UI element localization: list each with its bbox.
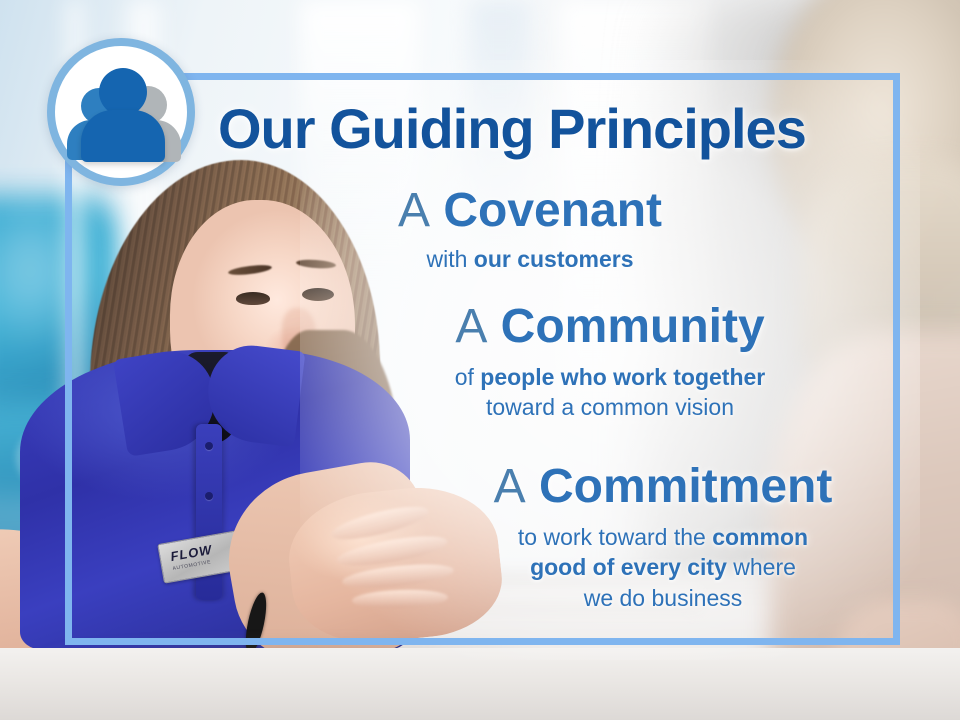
people-glyph [55,46,187,178]
principle-subtext-plain: of [455,364,481,390]
principle-article: A [398,184,430,237]
principle-commitment: A Commitment to work toward the common g… [448,462,878,613]
shirt-button [205,492,213,500]
principle-subtext-plain: with [426,246,473,272]
person-center-head [99,68,147,116]
three-people-icon [47,38,195,186]
page-title: Our Guiding Principles [218,96,878,161]
principle-heading: A Community [390,302,830,353]
shirt-button [205,442,213,450]
principle-subtext: to work toward the common good of every … [448,522,878,613]
principle-keyword: Commitment [539,460,832,513]
principle-heading: A Commitment [448,462,878,513]
principle-subtext-plain: to work toward the [518,524,712,550]
principle-subtext-line2: toward a common vision [486,394,734,420]
principle-subtext-line2-bold: good of every city [530,554,727,580]
principle-covenant: A Covenant with our customers [350,186,710,274]
principle-keyword: Community [501,300,765,353]
principle-subtext: of people who work together toward a com… [390,362,830,423]
principle-subtext-line2-plain: where [727,554,796,580]
employee-eye-right [302,288,334,301]
principle-subtext: with our customers [350,244,710,274]
principle-keyword: Covenant [443,184,662,237]
banner-canvas: FLOW AUTOMOTIVE FLOW Our Guiding Princip… [0,0,960,720]
employee-eye-left [236,292,270,305]
principle-heading: A Covenant [350,186,710,237]
table-surface [0,648,960,720]
principle-subtext-bold: common [712,524,808,550]
principle-article: A [455,300,487,353]
principle-subtext-line3: we do business [584,585,743,611]
principle-community: A Community of people who work together … [390,302,830,423]
person-center-body [81,110,165,162]
principle-subtext-bold: our customers [474,246,634,272]
principle-subtext-bold: people who work together [480,364,765,390]
principle-article: A [494,460,526,513]
